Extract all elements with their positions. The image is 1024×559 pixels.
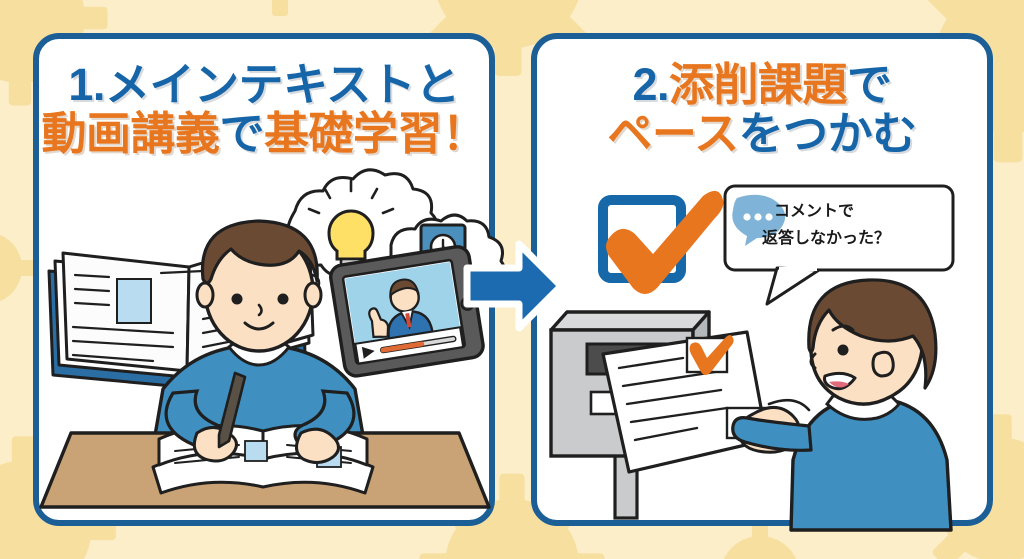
panel-1-heading-seg-3: で [219, 108, 264, 159]
panel-2-heading-seg-4: をつかむ [739, 108, 917, 159]
speech-bubble-line-1: コメントで [774, 200, 854, 221]
panel-2-heading-line-1: 2.添削課題で [537, 61, 987, 110]
illustration-student-studying [33, 175, 495, 527]
panel-1-heading: 1.メインテキストと 動画講義で基礎学習！ [39, 61, 489, 158]
speech-bubble-line-2: 返答しなかった？ [762, 227, 890, 248]
panel-1-heading-seg-1: メインテキストと [105, 59, 460, 110]
textbook-image-block-left [117, 279, 151, 323]
infographic-canvas: 1.メインテキストと 動画講義で基礎学習！ 2.添削課題で ペースをつかむ [0, 0, 1024, 559]
panel-1-heading-seg-4: 基礎学習！ [264, 108, 487, 159]
panel-1-heading-line-1: 1.メインテキストと [39, 61, 489, 110]
panel-2-step-number: 2. [632, 59, 669, 110]
panel-2-heading-seg-2: で [847, 59, 892, 110]
panel-2-heading-seg-3: ペース [607, 108, 738, 159]
right-arrow-icon [461, 238, 565, 334]
panel-1-step-number: 1. [68, 59, 105, 110]
panel-2-heading-seg-1: 添削課題 [669, 59, 847, 110]
panel-2-heading-line-2: ペースをつかむ [537, 110, 987, 159]
assignment-sheet [603, 332, 767, 472]
panel-2-heading: 2.添削課題で ペースをつかむ [537, 61, 987, 158]
panel-1-heading-seg-2: 動画講義 [41, 108, 219, 159]
smiling-person-figure [733, 280, 951, 530]
panel-1-heading-line-2: 動画講義で基礎学習！ [39, 110, 489, 159]
